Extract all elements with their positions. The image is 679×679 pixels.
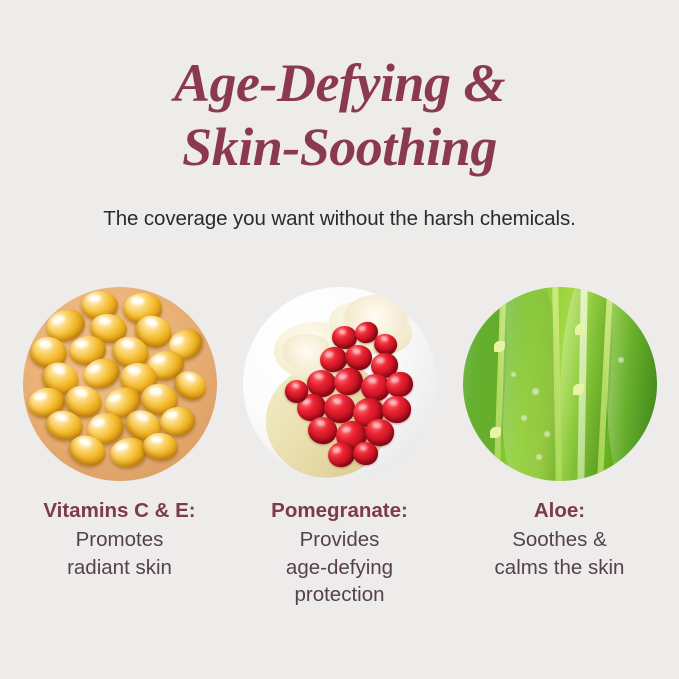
- page-title-line-1: Age-Defying &: [0, 52, 679, 116]
- ingredient-column-aloe: Aloe: Soothes & calms the skin: [462, 287, 657, 609]
- ingredient-title-vitamins: Vitamins C & E:: [10, 498, 230, 523]
- ingredient-body-pomegranate: Provides age-defying protection: [230, 526, 450, 609]
- page-title: Age-Defying & Skin-Soothing: [0, 52, 679, 179]
- ingredient-body-line: calms the skin: [450, 554, 670, 582]
- ingredient-body-line: Provides: [230, 526, 450, 554]
- ingredient-column-vitamins: Vitamins C & E: Promotes radiant skin: [22, 287, 217, 609]
- ingredient-title-aloe: Aloe:: [450, 498, 670, 523]
- pomegranate-photo: [243, 287, 437, 481]
- ingredient-caption-aloe: Aloe: Soothes & calms the skin: [450, 498, 670, 581]
- ingredient-body-aloe: Soothes & calms the skin: [450, 526, 670, 581]
- ingredient-body-line: age-defying: [230, 554, 450, 582]
- ingredient-body-line: protection: [230, 581, 450, 609]
- infographic-page: Age-Defying & Skin-Soothing The coverage…: [0, 0, 679, 679]
- ingredient-body-line: radiant skin: [10, 554, 230, 582]
- ingredient-body-vitamins: Promotes radiant skin: [10, 526, 230, 581]
- ingredient-columns: Vitamins C & E: Promotes radiant skin: [0, 287, 679, 609]
- ingredient-body-line: Soothes &: [450, 526, 670, 554]
- ingredient-column-pomegranate: Pomegranate: Provides age-defying protec…: [242, 287, 437, 609]
- page-title-line-2: Skin-Soothing: [0, 116, 679, 180]
- page-subtitle: The coverage you want without the harsh …: [0, 207, 679, 231]
- ingredient-body-line: Promotes: [10, 526, 230, 554]
- ingredient-caption-vitamins: Vitamins C & E: Promotes radiant skin: [10, 498, 230, 581]
- ingredient-title-pomegranate: Pomegranate:: [230, 498, 450, 523]
- aloe-leaves-photo: [463, 287, 657, 481]
- vitamin-capsules-photo: [23, 287, 217, 481]
- ingredient-caption-pomegranate: Pomegranate: Provides age-defying protec…: [230, 498, 450, 609]
